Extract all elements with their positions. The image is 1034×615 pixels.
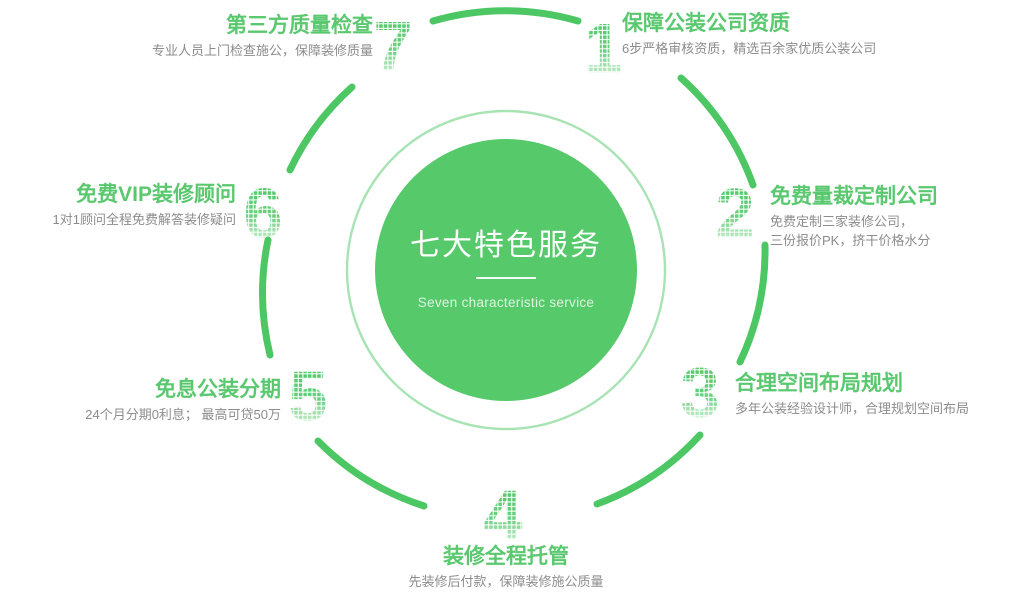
numeral-1-icon: 1 xyxy=(580,8,626,86)
numeral-5-icon: 5 xyxy=(285,356,331,434)
service-title: 保障公装公司资质 xyxy=(622,12,876,36)
arc-segment-upper-right xyxy=(681,78,753,185)
center-hub: 七大特色服务 Seven characteristic service xyxy=(375,139,637,401)
numeral-6-icon: 6 xyxy=(240,173,286,251)
service-item-7[interactable]: 7 第三方质量检查 专业人员上门检查施公，保障装修质量 xyxy=(0,14,373,61)
arc-segment-right xyxy=(740,245,765,362)
arc-segment-lower-left xyxy=(318,441,424,506)
service-item-6[interactable]: 6 免费VIP装修顾问 1对1顾问全程免费解答装修疑问 xyxy=(0,183,236,230)
hub-title: 七大特色服务 xyxy=(410,231,602,261)
service-item-5[interactable]: 5 免息公装分期 24个月分期0利息； 最高可贷50万 xyxy=(0,378,281,425)
service-title: 免费VIP装修顾问 xyxy=(0,183,236,207)
service-subtitle-line-2: 三份报价PK，挤干价格水分 xyxy=(770,232,938,251)
arc-segment-lower-right xyxy=(597,435,700,504)
numeral-2-icon: 2 xyxy=(712,173,758,251)
service-item-2[interactable]: 2 免费量裁定制公司 免费定制三家装修公司， 三份报价PK，挤干价格水分 xyxy=(770,185,938,251)
service-subtitle: 先装修后付款，保障装修施公质量 xyxy=(344,573,668,592)
arc-segment-upper-left xyxy=(290,87,352,170)
service-subtitle: 1对1顾问全程免费解答装修疑问 xyxy=(0,211,236,230)
service-item-4[interactable]: 4 装修全程托管 先装修后付款，保障装修施公质量 xyxy=(344,545,668,592)
service-title: 合理空间布局规划 xyxy=(735,372,969,396)
svg-text:3: 3 xyxy=(680,352,719,430)
arc-segment-top xyxy=(433,11,578,21)
service-subtitle: 6步严格审核资质，精选百余家优质公装公司 xyxy=(622,40,876,59)
svg-text:1: 1 xyxy=(583,8,622,86)
infographic-canvas: 七大特色服务 Seven characteristic service 1 保障… xyxy=(0,0,1034,615)
svg-text:5: 5 xyxy=(288,356,327,434)
service-subtitle: 24个月分期0利息； 最高可贷50万 xyxy=(0,406,281,425)
svg-text:6: 6 xyxy=(243,173,282,251)
service-item-3[interactable]: 3 合理空间布局规划 多年公装经验设计师，合理规划空间布局 xyxy=(735,372,969,419)
arc-segment-left xyxy=(263,240,270,355)
service-subtitle-line-1: 免费定制三家装修公司， xyxy=(770,213,938,232)
svg-text:4: 4 xyxy=(483,475,522,553)
numeral-3-icon: 3 xyxy=(677,352,723,430)
svg-text:7: 7 xyxy=(373,6,412,84)
service-title: 免息公装分期 xyxy=(0,378,281,402)
hub-subtitle: Seven characteristic service xyxy=(418,295,594,310)
svg-text:2: 2 xyxy=(715,173,754,251)
numeral-4-icon: 4 xyxy=(480,475,526,553)
numeral-7-icon: 7 xyxy=(370,6,416,84)
service-subtitle: 专业人员上门检查施公，保障装修质量 xyxy=(0,42,373,61)
hub-divider xyxy=(476,277,536,279)
service-title: 免费量裁定制公司 xyxy=(770,185,938,209)
service-subtitle: 多年公装经验设计师，合理规划空间布局 xyxy=(735,400,969,419)
service-title: 第三方质量检查 xyxy=(0,14,373,38)
service-item-1[interactable]: 1 保障公装公司资质 6步严格审核资质，精选百余家优质公装公司 xyxy=(622,12,876,59)
